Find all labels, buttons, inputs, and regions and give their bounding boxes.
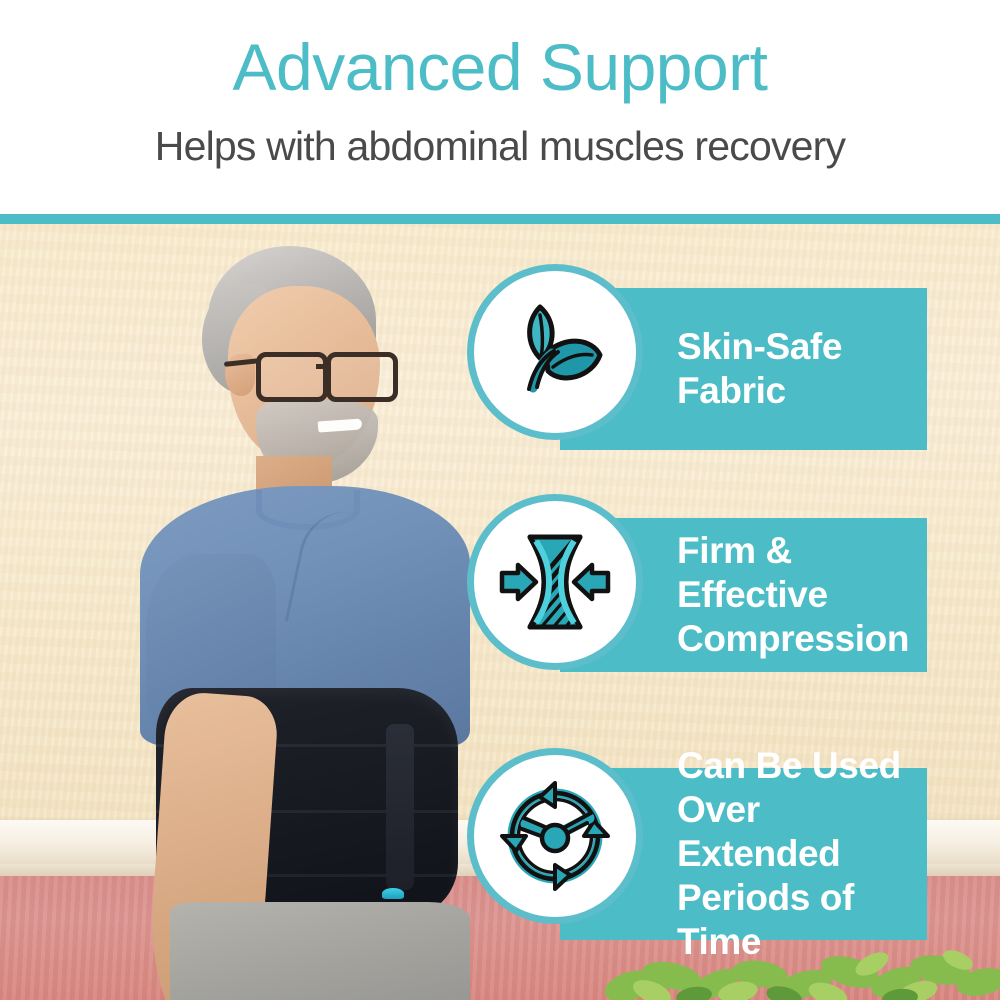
badge-label-line: Skin-Safe Fabric: [677, 325, 917, 413]
header-panel: Advanced Support Helps with abdominal mu…: [0, 0, 1000, 215]
header-divider: [0, 214, 1000, 224]
badge-icon-circle: [467, 748, 643, 924]
compression-icon: [496, 523, 614, 641]
badge-icon-circle: [467, 264, 643, 440]
lens-left: [256, 352, 328, 402]
eyeglasses: [256, 352, 396, 394]
badge-icon-circle: [467, 494, 643, 670]
badge-label-line: Over Extended: [677, 788, 917, 876]
badge-label-line: Firm & Effective: [677, 529, 917, 617]
page-title: Advanced Support: [0, 28, 1000, 106]
leaf-icon: [496, 293, 614, 411]
badge-label-line: Compression: [677, 617, 917, 661]
feature-badge-extended-use[interactable]: Can Be Used Over Extended Periods of Tim…: [467, 748, 1000, 940]
brand-logo-icon: [382, 888, 404, 899]
lens-right: [326, 352, 398, 402]
pants: [170, 902, 470, 1000]
feature-badge-skin-safe-fabric[interactable]: Skin-Safe Fabric: [467, 264, 1000, 440]
badge-label-line: Periods of Time: [677, 876, 917, 964]
badge-label-line: Can Be Used: [677, 744, 917, 788]
glasses-bridge: [316, 364, 330, 369]
feature-badge-firm-effective-compression[interactable]: Firm & Effective Compression: [467, 494, 1000, 670]
person-figure: [60, 224, 520, 1000]
product-feature-graphic: Advanced Support Helps with abdominal mu…: [0, 0, 1000, 1000]
clock-cycle-icon: [494, 775, 616, 897]
page-subtitle: Helps with abdominal muscles recovery: [0, 120, 1000, 172]
binder-velcro-strap: [386, 724, 414, 890]
